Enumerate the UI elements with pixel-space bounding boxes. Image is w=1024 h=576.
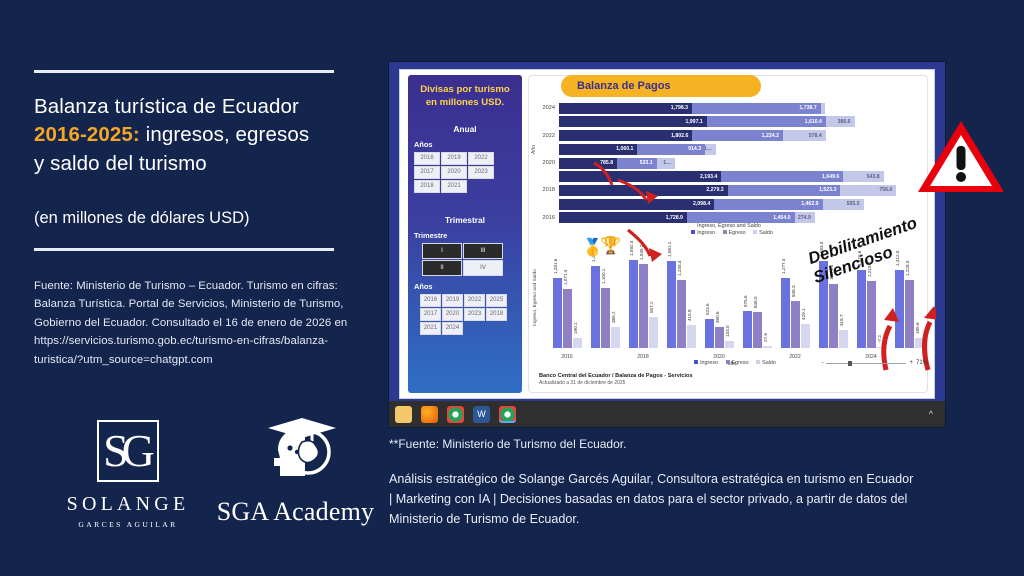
title-line-2: ingresos, egresos	[140, 123, 309, 146]
hbar-segment-egreso: 1,738.7	[692, 103, 821, 114]
hbar-row: 20241,798.31,738.7	[533, 102, 925, 115]
column-bar-egreso: 648.0	[753, 312, 762, 348]
system-tray[interactable]: ^	[929, 409, 937, 419]
column-value-label: 1,281.6	[553, 258, 558, 273]
column-bar-ingreso: 1,416.6	[857, 270, 866, 348]
column-value-label: 523.6	[705, 304, 710, 316]
anual-year-slicer[interactable]: 2016 2019 2022 2017 2020 2023 2018 2021	[408, 152, 522, 193]
legend-swatch-ingreso	[691, 230, 695, 234]
column-value-label: 1,581.1	[667, 242, 672, 257]
hbar-year-tick: 2018	[533, 187, 559, 193]
slicer-quarter[interactable]: II	[422, 260, 462, 276]
hbar-row: 1,060.1914.31…	[533, 143, 925, 156]
hbar-row: 20221,802.61,224.2578.4	[533, 129, 925, 142]
slicer-year[interactable]: 2024	[442, 322, 463, 335]
column-bar-ingreso: 1,486.3	[591, 266, 600, 348]
column-bar-egreso: 848.3	[791, 301, 800, 348]
zoom-minus-icon[interactable]: -	[821, 360, 823, 366]
slicer-year[interactable]: 2018	[486, 308, 507, 321]
column-bar-egreso: 1,228.3	[905, 280, 914, 348]
column-group: 1,592.41,535.2557.2	[629, 260, 658, 348]
legend-label: Saldo	[759, 230, 773, 236]
zoom-plus-icon[interactable]: +	[909, 360, 913, 366]
column-bar-egreso: 1,100.1	[601, 288, 610, 349]
hbar-segment-saldo: 543.8	[843, 171, 883, 182]
slicer-year[interactable]: 2023	[468, 166, 494, 179]
slicer-year[interactable]: 2022	[468, 152, 494, 165]
legend-swatch-egreso	[723, 230, 727, 234]
column-bar-saldo: 27.6	[763, 346, 772, 348]
hbar-segment-ingreso: 1,798.3	[559, 103, 692, 114]
windows-taskbar[interactable]: W ^	[389, 401, 945, 427]
slicer-year[interactable]: 2022	[464, 294, 485, 307]
trophy-icon: 🏆	[600, 236, 621, 256]
zoom-slider[interactable]	[826, 363, 906, 364]
legend-swatch-egreso	[726, 360, 730, 364]
column-bar-egreso: 1,071.4	[563, 289, 572, 348]
legend-swatch-ingreso	[694, 360, 698, 364]
anual-heading: Anual	[408, 124, 522, 134]
column-bar-saldo: 385.2	[611, 327, 620, 348]
sga-logo-name: SGA Academy	[208, 497, 383, 527]
solange-logo-subtitle: GARCES AGUILAR	[58, 520, 198, 529]
column-value-label: 1,228.3	[905, 261, 910, 276]
hbar-row: 20182,279.31,523.3756.0	[533, 184, 925, 197]
column-value-label: 1,535.2	[639, 244, 644, 259]
hbar-year-tick: 2022	[533, 133, 559, 139]
column-bar-egreso: 1,235.3	[677, 280, 686, 348]
hbar-segment-ingreso: 2,193.4	[559, 171, 721, 182]
hbar-segment-ingreso: 785.8	[559, 158, 617, 169]
solange-logo: SG SOLANGE GARCES AGUILAR	[58, 420, 198, 529]
column-bar-ingreso: 1,592.4	[629, 260, 638, 348]
hbar-segment-egreso: 1,454.0	[687, 212, 795, 223]
firefox-icon[interactable]	[421, 406, 438, 423]
column-value-label: 1,412.0	[895, 251, 900, 266]
source-citation: Fuente: Ministerio de Turismo – Ecuador.…	[34, 277, 370, 369]
slicer-year[interactable]: 2016	[414, 152, 440, 165]
column-bar-egreso: 1,215.0	[867, 281, 876, 348]
hbar-row: 2020785.8533.11…	[533, 157, 925, 170]
hbar-legend-title: Ingreso, Egreso and Saldo	[533, 223, 925, 229]
slicer-year[interactable]: 2017	[414, 166, 440, 179]
sg-monogram-box: SG	[97, 420, 159, 482]
column-bar-ingreso: 1,412.0	[895, 270, 904, 348]
slicer-year[interactable]: 2020	[441, 166, 467, 179]
hbar-row: 2,193.41,649.6543.8	[533, 170, 925, 183]
column-value-label: 1,100.1	[601, 268, 606, 283]
footer-updated: Actualizado a 31 de diciembre de 2025	[539, 380, 693, 386]
chart-title-pill: Balanza de Pagos	[561, 75, 761, 97]
slicer-year[interactable]: 2025	[486, 294, 507, 307]
slicer-quarter[interactable]: III	[463, 243, 503, 259]
word-icon[interactable]: W	[473, 406, 490, 423]
slicer-year[interactable]: 2021	[420, 322, 441, 335]
column-value-label: -7.2	[877, 335, 882, 343]
slicer-year[interactable]: 2019	[442, 294, 463, 307]
column-bar-ingreso: 1,277.4	[781, 278, 790, 348]
hbar-year-tick: 2020	[533, 160, 559, 166]
hbar-segment-ingreso: 1,728.9	[559, 212, 687, 223]
column-value-label: 27.6	[763, 334, 768, 343]
title-line-3: y saldo del turismo	[34, 152, 207, 175]
anual-years-label: Años	[414, 140, 522, 149]
hbar-row: 1,997.11,610.4386.6	[533, 116, 925, 129]
slicer-year[interactable]: 2023	[464, 308, 485, 321]
slicer-year[interactable]: 2019	[441, 152, 467, 165]
hbar-segment-ingreso: 1,060.1	[559, 144, 637, 155]
hbar-segment-egreso: 1,224.2	[692, 130, 783, 141]
column-bar-saldo: -7.2	[877, 347, 886, 349]
column-value-label: 675.6	[743, 295, 748, 307]
hbar-segment-saldo: 578.4	[783, 130, 826, 141]
column-value-label: 133.0	[725, 325, 730, 337]
warning-triangle-icon	[915, 118, 1007, 196]
legend-label: Ingreso	[700, 360, 718, 366]
legend-swatch-saldo	[753, 230, 757, 234]
slicer-quarter[interactable]: I	[422, 243, 462, 259]
column-group: 1,412.01,228.3185.6	[895, 270, 924, 348]
column-value-label: 648.0	[753, 297, 758, 309]
column-bar-saldo: 429.1	[801, 324, 810, 348]
column-bar-ingreso: 523.6	[705, 319, 714, 348]
column-value-label: 190.1	[573, 322, 578, 334]
column-group: 1,486.31,100.1385.2	[591, 266, 620, 348]
column-value-label: 848.3	[791, 286, 796, 298]
column-group: 675.6648.027.6	[743, 311, 772, 348]
legend-swatch-saldo	[756, 360, 760, 364]
column-value-label: 318.7	[839, 315, 844, 327]
graduate-head-icon	[250, 414, 342, 486]
zoom-control[interactable]: - + 71%	[778, 358, 928, 368]
column-group: 1,581.11,235.3415.8	[667, 261, 696, 348]
column-value-label: 385.2	[611, 311, 616, 323]
chrome-icon[interactable]	[447, 406, 464, 423]
trim-years-label: Años	[414, 282, 522, 291]
hbar-segment-ingreso: 1,997.1	[559, 116, 707, 127]
hbar-segment-egreso: 533.1	[617, 158, 656, 169]
slicer-quarter[interactable]: IV	[463, 260, 503, 276]
legend-label: Ingreso	[697, 230, 715, 236]
caption-block: **Fuente: Ministerio de Turismo del Ecua…	[389, 437, 919, 530]
hbar-segment-saldo: 555.5	[823, 199, 864, 210]
hbar-segment-saldo: 386.6	[826, 116, 855, 127]
column-bar-ingreso: 1,581.1	[667, 261, 676, 348]
hbar-segment-saldo	[821, 103, 825, 114]
hbar-year-tick: 2016	[533, 215, 559, 221]
column-group: 523.6390.6133.0	[705, 319, 734, 348]
slide-root: Balanza turística de Ecuador 2016-2025: …	[0, 0, 1024, 576]
column-value-label: 1,592.4	[629, 241, 634, 256]
hbar-segment-saldo: 274.9	[795, 212, 815, 223]
column-bar-ingreso: 1,281.6	[553, 278, 562, 348]
trimestre-slicer[interactable]: I III II IV	[408, 243, 522, 276]
hbar-segment-egreso: 914.3	[637, 144, 705, 155]
caption-body: Análisis estratégico de Solange Garcés A…	[389, 470, 919, 530]
legend-label: Egreso	[729, 230, 746, 236]
column-value-label: 390.6	[715, 311, 720, 323]
horizontal-bar-chart: Año 20241,798.31,738.71,997.11,610.4386.…	[533, 102, 925, 222]
chart-footer: Banco Central del Ecuador / Balanza de P…	[539, 373, 693, 387]
column-group: 1,281.61,071.4190.1	[553, 278, 582, 348]
column-bar-saldo: 318.7	[839, 330, 848, 348]
title-line-1: Balanza turística de Ecuador	[34, 95, 299, 118]
hbar-segment-saldo: 756.0	[840, 185, 896, 196]
column-y-axis-label: Ingreso, Egreso and Saldo	[533, 269, 538, 326]
divider-top	[34, 70, 334, 73]
column-bar-egreso: 1,171.1	[829, 284, 838, 348]
hbar-year-tick: 2024	[533, 105, 559, 111]
logo-row: SG SOLANGE GARCES AGUILAR SGA Academy	[36, 420, 376, 540]
hbar-segment-ingreso: 2,098.4	[559, 199, 714, 210]
column-bar-saldo: 557.2	[649, 317, 658, 348]
page-subtitle: (en millones de dólares USD)	[34, 209, 374, 228]
slicer-year[interactable]: 2017	[420, 308, 441, 321]
hbar-segment-egreso: 1,523.3	[728, 185, 841, 196]
trimestral-heading: Trimestral	[408, 215, 522, 225]
hbar-segment-ingreso: 2,279.3	[559, 185, 728, 196]
column-group: 1,277.4848.3429.1	[781, 278, 810, 348]
column-value-label: 1,235.3	[677, 261, 682, 276]
page-title: Balanza turística de Ecuador 2016-2025: …	[34, 93, 374, 178]
column-group: 1,416.61,215.0-7.2	[857, 270, 886, 348]
column-bar-saldo: 133.0	[725, 341, 734, 348]
file-explorer-icon[interactable]	[395, 406, 412, 423]
sidebar-title: Divisas por turismo en millones USD.	[408, 75, 522, 110]
solange-logo-name: SOLANGE	[58, 493, 198, 516]
trimestral-year-slicer[interactable]: 2016 2019 2022 2025 2017 2020 2023 2018 …	[408, 294, 522, 335]
title-years: 2016-2025:	[34, 123, 140, 146]
hbar-segment-egreso: 1,649.6	[721, 171, 843, 182]
column-value-label: 557.2	[649, 302, 654, 314]
caption-source: **Fuente: Ministerio de Turismo del Ecua…	[389, 437, 919, 451]
column-bar-saldo: 415.8	[687, 325, 696, 348]
column-value-label: 1,071.4	[563, 270, 568, 285]
hbar-segment-saldo: 1…	[657, 158, 676, 169]
hbar-segment-ingreso: 1,802.6	[559, 130, 692, 141]
column-value-label: 415.8	[687, 310, 692, 322]
hbar-segment-saldo: 1…	[705, 144, 716, 155]
sga-academy-logo: SGA Academy	[208, 414, 383, 527]
chrome-active-icon[interactable]	[499, 406, 516, 423]
divider-bottom	[34, 248, 334, 251]
legend-label: Egreso	[732, 360, 749, 366]
zoom-slider-knob[interactable]	[848, 361, 852, 366]
column-bar-egreso: 1,535.2	[639, 264, 648, 348]
dashboard-sidebar: Divisas por turismo en millones USD. Anu…	[408, 75, 522, 393]
column-bar-ingreso: 675.6	[743, 311, 752, 348]
slicer-year[interactable]: 2020	[442, 308, 463, 321]
hbar-segment-egreso: 1,610.4	[707, 116, 826, 127]
slicer-year[interactable]: 2018	[414, 180, 440, 193]
left-text-panel: Balanza turística de Ecuador 2016-2025: …	[34, 70, 374, 369]
slicer-year[interactable]: 2016	[420, 294, 441, 307]
slicer-year[interactable]: 2021	[441, 180, 467, 193]
column-value-label: 429.1	[801, 309, 806, 321]
trimestre-label: Trimestre	[414, 231, 522, 240]
footer-source: Banco Central del Ecuador / Balanza de P…	[539, 373, 693, 379]
sg-monogram-text: SG	[103, 428, 153, 474]
column-bar-egreso: 390.6	[715, 327, 724, 348]
hbar-segment-egreso: 1,462.9	[714, 199, 822, 210]
hbar-row: 2,098.41,462.9555.5	[533, 198, 925, 211]
zoom-level-value: 71%	[916, 360, 928, 366]
column-bar-saldo: 185.6	[915, 338, 924, 348]
column-value-label: 1,277.4	[781, 258, 786, 273]
column-value-label: 185.6	[915, 322, 920, 334]
column-bar-saldo: 190.1	[573, 338, 582, 348]
legend-label: Saldo	[762, 360, 776, 366]
